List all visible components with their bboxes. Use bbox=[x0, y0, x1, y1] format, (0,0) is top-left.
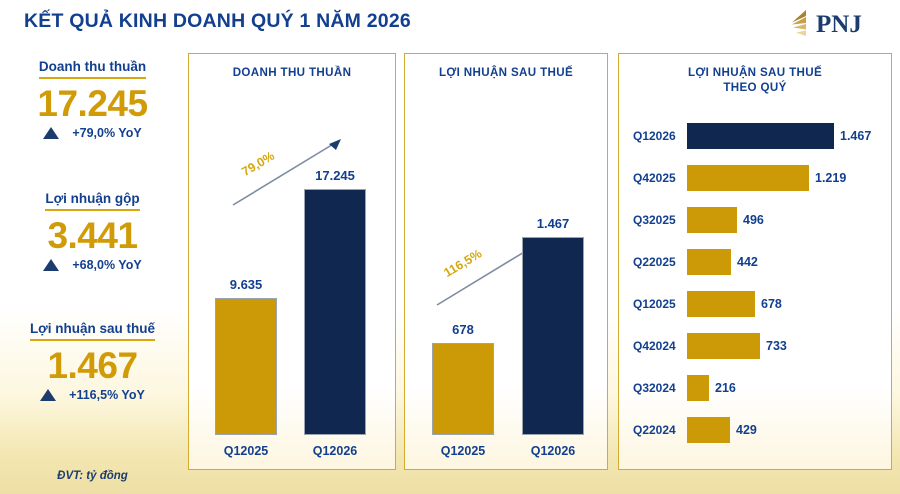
row-value: 678 bbox=[761, 297, 782, 311]
kpi-label: Doanh thu thuần bbox=[39, 59, 146, 79]
triangle-up-icon bbox=[40, 389, 56, 401]
row-category: Q42025 bbox=[633, 171, 676, 185]
kpi-value: 17.245 bbox=[0, 83, 185, 125]
kpi-card-gross-profit: Lợi nhuận gộp 3.441 +68,0% YoY bbox=[0, 190, 185, 272]
kpi-delta: +116,5% YoY bbox=[0, 388, 185, 402]
row-category: Q22024 bbox=[633, 423, 676, 437]
table-row: Q32024 216 bbox=[619, 374, 891, 402]
page-header: KẾT QUẢ KINH DOANH QUÝ 1 NĂM 2026 PNJ bbox=[0, 0, 900, 48]
row-category: Q42024 bbox=[633, 339, 676, 353]
pnj-logo: PNJ bbox=[780, 5, 884, 41]
bar-q12025: 678 Q12025 bbox=[432, 343, 494, 435]
chart-title-line1: LỢI NHUẬN SAU THUẾ bbox=[688, 66, 822, 79]
table-row: Q32025 496 bbox=[619, 206, 891, 234]
kpi-label: Lợi nhuận sau thuế bbox=[30, 321, 155, 341]
kpi-label: Lợi nhuận gộp bbox=[45, 191, 139, 211]
kpi-delta-text: +68,0% YoY bbox=[72, 258, 141, 272]
kpi-card-net-profit: Lợi nhuận sau thuế 1.467 +116,5% YoY bbox=[0, 320, 185, 402]
chart-panel-profit-after-tax: LỢI NHUẬN SAU THUẾ 116,5% 678 Q12025 1.4… bbox=[404, 53, 608, 470]
bar-q12025: 9.635 Q12025 bbox=[215, 298, 277, 435]
row-bar bbox=[687, 123, 834, 149]
logo-wordmark: PNJ bbox=[816, 11, 862, 38]
kpi-value: 3.441 bbox=[0, 215, 185, 257]
table-row: Q42025 1.219 bbox=[619, 164, 891, 192]
row-bar bbox=[687, 417, 730, 443]
row-bar bbox=[687, 291, 755, 317]
row-value: 733 bbox=[766, 339, 787, 353]
row-category: Q22025 bbox=[633, 255, 676, 269]
row-value: 442 bbox=[737, 255, 758, 269]
chart-panel-revenue: DOANH THU THUẦN 79,0% 9.635 Q12025 17.24… bbox=[188, 53, 396, 470]
bar-q12026: 17.245 Q12026 bbox=[304, 189, 366, 435]
row-category: Q12026 bbox=[633, 129, 676, 143]
table-row: Q12026 1.467 bbox=[619, 122, 891, 150]
table-row: Q12025 678 bbox=[619, 290, 891, 318]
page-title: KẾT QUẢ KINH DOANH QUÝ 1 NĂM 2026 bbox=[24, 10, 411, 33]
bar-value: 1.467 bbox=[537, 216, 570, 231]
profit-bar-chart: 116,5% 678 Q12025 1.467 Q12026 bbox=[405, 54, 607, 469]
bar-category: Q12026 bbox=[531, 444, 575, 458]
bar-rect bbox=[304, 189, 366, 435]
table-row: Q22025 442 bbox=[619, 248, 891, 276]
row-value: 1.467 bbox=[840, 129, 871, 143]
row-value: 216 bbox=[715, 381, 736, 395]
chart-title-line2: THEO QUÝ bbox=[723, 81, 786, 94]
bar-category: Q12026 bbox=[313, 444, 357, 458]
row-bar bbox=[687, 249, 731, 275]
kpi-delta-text: +79,0% YoY bbox=[72, 126, 141, 140]
row-bar bbox=[687, 375, 709, 401]
triangle-up-icon bbox=[43, 127, 59, 139]
kpi-column: Doanh thu thuần 17.245 +79,0% YoY Lợi nh… bbox=[0, 52, 185, 482]
row-value: 1.219 bbox=[815, 171, 846, 185]
kpi-card-revenue: Doanh thu thuần 17.245 +79,0% YoY bbox=[0, 58, 185, 140]
row-category: Q32024 bbox=[633, 381, 676, 395]
kpi-delta-text: +116,5% YoY bbox=[69, 388, 145, 402]
kpi-delta: +79,0% YoY bbox=[0, 126, 185, 140]
chart-title: LỢI NHUẬN SAU THUẾ THEO QUÝ bbox=[619, 65, 891, 95]
revenue-bar-chart: 79,0% 9.635 Q12025 17.245 Q12026 bbox=[189, 54, 395, 469]
kpi-value: 1.467 bbox=[0, 345, 185, 387]
triangle-up-icon bbox=[43, 259, 59, 271]
bar-rect bbox=[215, 298, 277, 435]
row-value: 429 bbox=[736, 423, 757, 437]
chart-panel-profit-by-quarter: LỢI NHUẬN SAU THUẾ THEO QUÝ Q12026 1.467… bbox=[618, 53, 892, 470]
table-row: Q42024 733 bbox=[619, 332, 891, 360]
logo-diamond-icon bbox=[788, 9, 807, 37]
bar-value: 9.635 bbox=[230, 277, 263, 292]
row-bar bbox=[687, 165, 809, 191]
bar-rect bbox=[522, 237, 584, 435]
bar-q12026: 1.467 Q12026 bbox=[522, 237, 584, 435]
row-bar bbox=[687, 207, 737, 233]
bar-category: Q12025 bbox=[224, 444, 268, 458]
unit-note: ĐVT: tỷ đồng bbox=[0, 470, 185, 482]
row-value: 496 bbox=[743, 213, 764, 227]
row-bar bbox=[687, 333, 760, 359]
kpi-delta: +68,0% YoY bbox=[0, 258, 185, 272]
bar-value: 17.245 bbox=[315, 168, 355, 183]
bar-category: Q12025 bbox=[441, 444, 485, 458]
bar-rect bbox=[432, 343, 494, 435]
table-row: Q22024 429 bbox=[619, 416, 891, 444]
row-category: Q32025 bbox=[633, 213, 676, 227]
bar-value: 678 bbox=[452, 322, 474, 337]
row-category: Q12025 bbox=[633, 297, 676, 311]
